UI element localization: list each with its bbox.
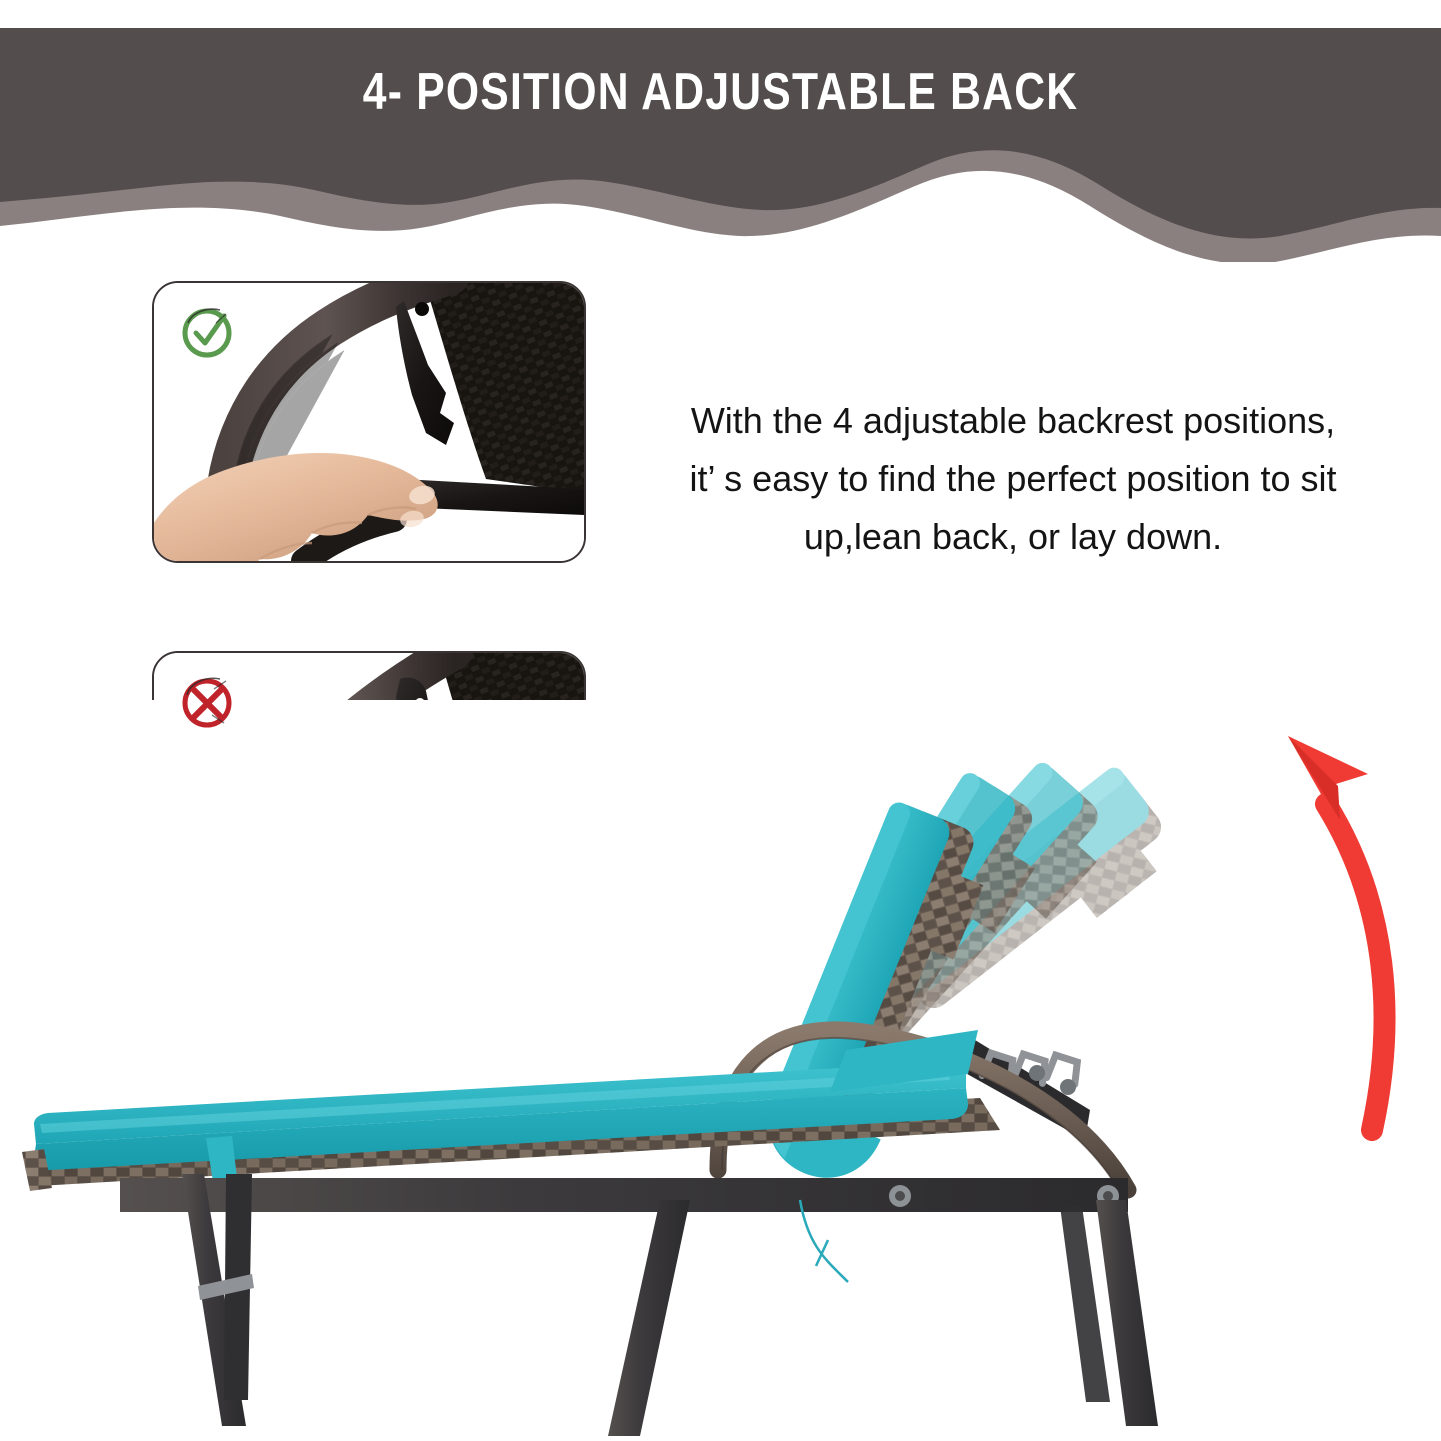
green-check-circle-icon <box>176 301 238 363</box>
description-paragraph: With the 4 adjustable backrest positions… <box>608 392 1418 566</box>
description-line-1: With the 4 adjustable backrest positions… <box>608 392 1418 450</box>
product-illustration-chaise-lounge <box>0 700 1441 1441</box>
red-cross-circle-icon <box>176 671 238 733</box>
header-banner: 4- POSITION ADJUSTABLE BACK <box>0 0 1441 262</box>
description-line-2: it’ s easy to find the perfect position … <box>608 450 1418 508</box>
description-line-3: up,lean back, or lay down. <box>608 508 1418 566</box>
frame-rail <box>120 1178 1128 1212</box>
page-title: 4- POSITION ADJUSTABLE BACK <box>130 62 1312 122</box>
inset-card-correct-usage <box>152 281 586 563</box>
header-wave-graphic <box>0 0 1441 262</box>
